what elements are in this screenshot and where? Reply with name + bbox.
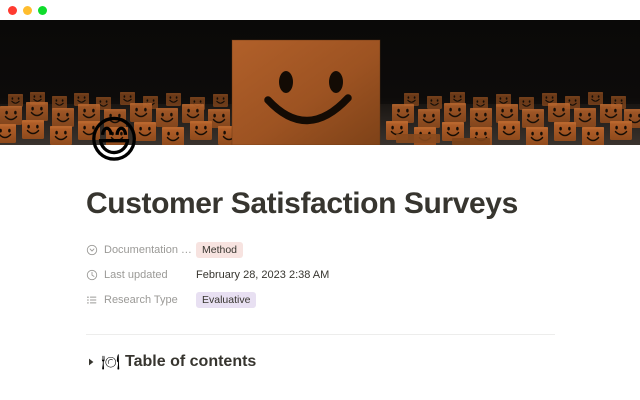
table-of-contents-toggle[interactable]: 🍽 Table of contents [86, 353, 640, 371]
select-icon [86, 244, 98, 256]
page-properties: Documentation T… Method Last updated Feb… [86, 237, 640, 312]
property-value-date[interactable]: February 28, 2023 2:38 AM [196, 269, 329, 281]
table-of-contents-label[interactable]: Table of contents [125, 353, 256, 371]
chevron-right-icon[interactable] [86, 357, 96, 367]
page-content: Customer Satisfaction Surveys Documentat… [0, 145, 640, 371]
property-label-text: Research Type [104, 294, 178, 306]
cover-hero-box [232, 40, 380, 145]
app-root: 😄 Customer Satisfaction Surveys Document… [0, 0, 640, 400]
minimize-button[interactable] [23, 6, 32, 15]
property-label-text: Last updated [104, 269, 168, 281]
property-label[interactable]: Documentation T… [86, 244, 196, 256]
page-emoji-icon[interactable]: 😄 [86, 112, 142, 168]
content-divider [86, 334, 555, 335]
window-titlebar [0, 0, 640, 20]
page-title[interactable]: Customer Satisfaction Surveys [86, 187, 640, 221]
zoom-button[interactable] [38, 6, 47, 15]
property-label[interactable]: Research Type [86, 294, 196, 306]
property-row-last-updated[interactable]: Last updated February 28, 2023 2:38 AM [86, 262, 640, 287]
plate-utensils-icon: 🍽 [101, 353, 120, 371]
property-label[interactable]: Last updated [86, 269, 196, 281]
multi-select-icon [86, 294, 98, 306]
status-badge[interactable]: Evaluative [196, 292, 256, 308]
property-label-text: Documentation T… [104, 244, 196, 256]
property-value[interactable]: Method [196, 242, 243, 258]
property-value[interactable]: Evaluative [196, 292, 256, 308]
triangle-collapsed [86, 357, 96, 367]
property-row-research-type[interactable]: Research Type Evaluative [86, 287, 640, 312]
clock-icon [86, 269, 98, 281]
property-row-documentation-type[interactable]: Documentation T… Method [86, 237, 640, 262]
status-badge[interactable]: Method [196, 242, 243, 258]
close-button[interactable] [8, 6, 17, 15]
